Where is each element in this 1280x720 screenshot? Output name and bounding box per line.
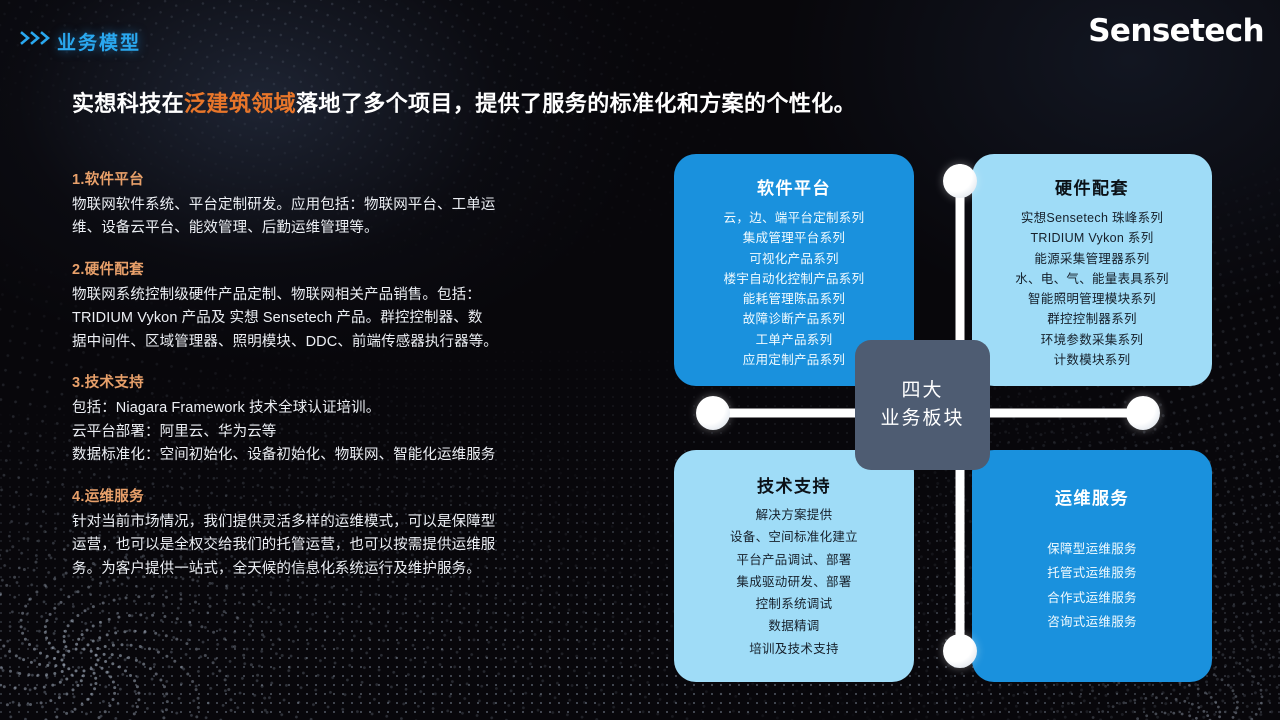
connector-knob-top	[943, 164, 977, 198]
left-content-column: 1.软件平台物联网软件系统、平台定制研发。应用包括：物联网平台、工单运维、设备云…	[72, 168, 572, 598]
card-item: 咨询式运维服务	[982, 610, 1202, 634]
left-section-title: 1.软件平台	[72, 168, 572, 189]
page-title: 业务模型	[57, 28, 141, 55]
card-item-list: 保障型运维服务托管式运维服务合作式运维服务咨询式运维服务	[982, 537, 1202, 635]
left-section-line: 云平台部署：阿里云、华为云等	[72, 421, 572, 444]
left-section: 1.软件平台物联网软件系统、平台定制研发。应用包括：物联网平台、工单运维、设备云…	[72, 168, 572, 241]
card-item: 楼宇自动化控制产品系列	[684, 269, 904, 289]
left-section-line: 务。为客户提供一站式，全天候的信息化系统运行及维护服务。	[72, 558, 572, 581]
card-item: 可视化产品系列	[684, 249, 904, 269]
card-item: 平台产品调试、部署	[684, 549, 904, 571]
card-item-list: 实想Sensetech 珠峰系列TRIDIUM Vykon 系列能源采集管理器系…	[982, 208, 1202, 370]
card-item: 能耗管理陈品系列	[684, 289, 904, 309]
left-section: 2.硬件配套物联网系统控制级硬件产品定制、物联网相关产品销售。包括：TRIDIU…	[72, 258, 572, 354]
card-item: 智能照明管理模块系列	[982, 289, 1202, 309]
card-title: 硬件配套	[982, 174, 1202, 199]
card-item-list: 解决方案提供设备、空间标准化建立平台产品调试、部署集成驱动研发、部署控制系统调试…	[684, 504, 904, 660]
card-item: 托管式运维服务	[982, 561, 1202, 585]
card-operation-service[interactable]: 运维服务 保障型运维服务托管式运维服务合作式运维服务咨询式运维服务	[972, 450, 1212, 682]
brand-logo: Sensetech	[1088, 13, 1264, 49]
connector-knob-right	[1126, 396, 1160, 430]
left-section-body: 物联网系统控制级硬件产品定制、物联网相关产品销售。包括：TRIDIUM Vyko…	[72, 284, 572, 354]
center-hub-line2: 业务板块	[880, 405, 964, 433]
connector-knob-bottom	[943, 634, 977, 668]
left-section-line: 据中间件、区域管理器、照明模块、DDC、前端传感器执行器等。	[72, 331, 572, 354]
left-section: 3.技术支持包括：Niagara Framework 技术全球认证培训。云平台部…	[72, 371, 572, 467]
card-item: 解决方案提供	[684, 504, 904, 526]
left-section-line: 物联网软件系统、平台定制研发。应用包括：物联网平台、工单运	[72, 194, 572, 217]
card-item: 能源采集管理器系列	[982, 249, 1202, 269]
left-section-line: 针对当前市场情况，我们提供灵活多样的运维模式，可以是保障型	[72, 511, 572, 534]
card-item: 环境参数采集系列	[982, 330, 1202, 350]
four-business-segments-diagram: 软件平台 云，边、端平台定制系列集成管理平台系列可视化产品系列楼宇自动化控制产品…	[660, 140, 1260, 685]
card-item: 群控控制器系列	[982, 309, 1202, 329]
triple-chevron-right-icon	[20, 31, 54, 45]
left-section-line: 维、设备云平台、能效管理、后勤运维管理等。	[72, 217, 572, 240]
left-section: 4.运维服务针对当前市场情况，我们提供灵活多样的运维模式，可以是保障型运营，也可…	[72, 485, 572, 581]
card-item: 故障诊断产品系列	[684, 309, 904, 329]
card-item: 水、电、气、能量表具系列	[982, 269, 1202, 289]
center-hub-line1: 四大	[901, 377, 943, 405]
card-item: 数据精调	[684, 615, 904, 637]
left-section-title: 2.硬件配套	[72, 258, 572, 279]
left-section-body: 包括：Niagara Framework 技术全球认证培训。云平台部署：阿里云、…	[72, 397, 572, 467]
card-item: 培训及技术支持	[684, 638, 904, 660]
left-section-line: 数据标准化：空间初始化、设备初始化、物联网、智能化运维服务	[72, 444, 572, 467]
card-item: 控制系统调试	[684, 593, 904, 615]
card-item: 实想Sensetech 珠峰系列	[982, 208, 1202, 228]
left-section-line: TRIDIUM Vykon 产品及 实想 Sensetech 产品。群控控制器、…	[72, 307, 572, 330]
card-title: 软件平台	[684, 174, 904, 199]
card-item: 计数模块系列	[982, 350, 1202, 370]
headline-after: 落地了多个项目，提供了服务的标准化和方案的个性化。	[296, 91, 856, 116]
left-section-body: 针对当前市场情况，我们提供灵活多样的运维模式，可以是保障型运营，也可以是全权交给…	[72, 511, 572, 581]
left-section-title: 3.技术支持	[72, 371, 572, 392]
headline: 实想科技在泛建筑领域落地了多个项目，提供了服务的标准化和方案的个性化。	[72, 86, 952, 118]
left-section-line: 物联网系统控制级硬件产品定制、物联网相关产品销售。包括：	[72, 284, 572, 307]
headline-before: 实想科技在	[72, 91, 184, 116]
card-item: 设备、空间标准化建立	[684, 526, 904, 548]
card-item: 合作式运维服务	[982, 586, 1202, 610]
page-header: 业务模型 Sensetech	[0, 0, 1280, 62]
card-hardware-kit[interactable]: 硬件配套 实想Sensetech 珠峰系列TRIDIUM Vykon 系列能源采…	[972, 154, 1212, 386]
card-item: 保障型运维服务	[982, 537, 1202, 561]
connector-knob-left	[696, 396, 730, 430]
card-technical-support[interactable]: 技术支持 解决方案提供设备、空间标准化建立平台产品调试、部署集成驱动研发、部署控…	[674, 450, 914, 682]
card-item: 集成管理平台系列	[684, 228, 904, 248]
card-item: TRIDIUM Vykon 系列	[982, 228, 1202, 248]
card-title: 运维服务	[982, 484, 1202, 509]
left-section-line: 包括：Niagara Framework 技术全球认证培训。	[72, 397, 572, 420]
center-hub: 四大 业务板块	[855, 340, 990, 470]
card-item: 集成驱动研发、部署	[684, 571, 904, 593]
headline-highlight: 泛建筑领域	[184, 91, 296, 116]
card-title: 技术支持	[684, 472, 904, 497]
left-section-line: 运营，也可以是全权交给我们的托管运营，也可以按需提供运维服	[72, 534, 572, 557]
left-section-body: 物联网软件系统、平台定制研发。应用包括：物联网平台、工单运维、设备云平台、能效管…	[72, 194, 572, 241]
left-section-title: 4.运维服务	[72, 485, 572, 506]
card-item: 云，边、端平台定制系列	[684, 208, 904, 228]
